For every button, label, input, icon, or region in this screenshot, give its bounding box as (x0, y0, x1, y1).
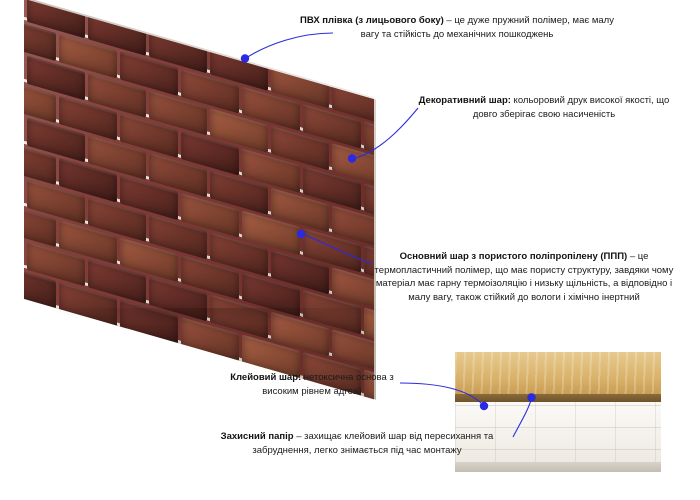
brick-panel-illustration (14, 8, 394, 348)
annotation-title: Захисний папір (221, 431, 294, 442)
panel-shadow (31, 308, 394, 324)
wood-shelf (455, 352, 661, 396)
annotation-title: ПВХ плівка (з лицьового боку) (300, 15, 444, 26)
annotation-pvh-film: ПВХ плівка (з лицьового боку) – це дуже … (292, 14, 622, 41)
annotation-protective-paper: Захисний папір – захищає клейовий шар ві… (192, 430, 522, 457)
annotation-polypropylene-core: Основний шар з пористого поліпропілену (… (374, 250, 674, 304)
annotation-adhesive-layer: Клейовий шар: нетоксична основа з високи… (222, 371, 402, 398)
diagram-stage: ПВХ плівка (з лицьового боку) – це дуже … (0, 0, 700, 500)
annotation-title: Клейовий шар: (230, 372, 301, 383)
annotation-title: Основний шар з пористого поліпропілену (… (400, 251, 628, 262)
floor-line (455, 462, 661, 472)
brick-surface (24, 0, 374, 399)
annotation-title: Декоративний шар: (419, 95, 511, 106)
annotation-decorative-layer: Декоративний шар: кольоровий друк високо… (414, 94, 674, 121)
